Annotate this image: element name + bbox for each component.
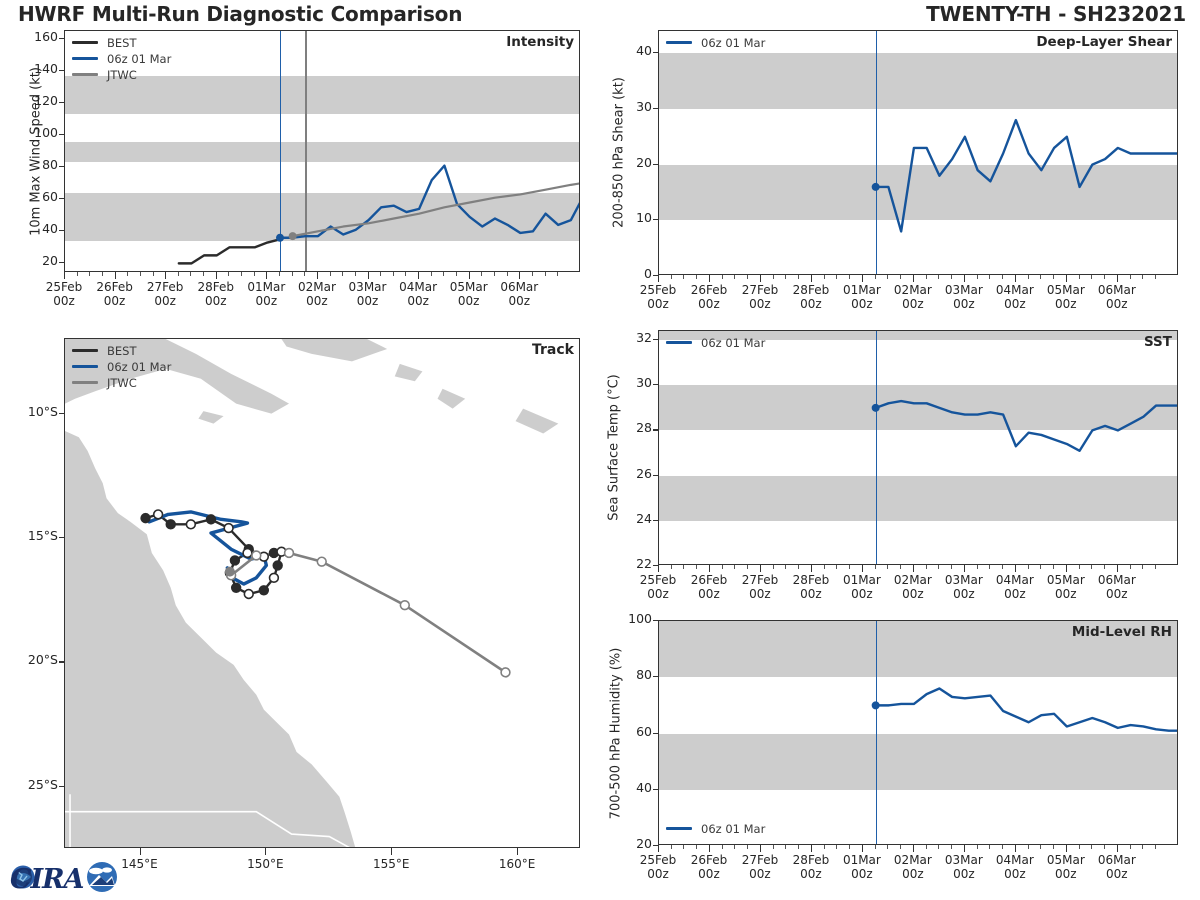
x-minor-tick: [696, 845, 697, 849]
x-tick-hour: 00z: [647, 587, 669, 601]
x-minor-tick: [900, 845, 901, 849]
x-minor-tick: [785, 845, 786, 849]
legend-item-best: BEST: [72, 343, 171, 358]
x-minor-tick: [1104, 565, 1105, 569]
x-tick-mark: [811, 275, 812, 282]
x-minor-tick: [1028, 565, 1029, 569]
map-y-tick-label: 10°S: [6, 404, 58, 419]
y-tick-mark: [653, 108, 659, 109]
x-tick-label: 06Mar00z: [1083, 853, 1151, 881]
x-minor-tick: [836, 565, 837, 569]
map-x-tick-label: 155°E: [351, 857, 431, 871]
y-tick-label: 30: [610, 99, 652, 114]
y-tick-label: 10: [610, 210, 652, 225]
legend-item-jtwc: JTWC: [72, 375, 171, 390]
y-tick-label: 22: [610, 556, 652, 571]
track-panel: Track BEST06z 01 MarJTWC: [64, 338, 580, 848]
map-y-tick-label: 25°S: [6, 777, 58, 792]
x-tick-hour: 00z: [205, 294, 227, 308]
x-tick-mark: [964, 845, 965, 852]
x-tick-date: 01Mar: [843, 573, 881, 587]
x-tick-date: 01Mar: [247, 280, 285, 294]
x-minor-tick: [836, 845, 837, 849]
x-tick-mark: [709, 845, 710, 852]
init-marker: [872, 183, 880, 191]
legend-label: 06z 01 Mar: [107, 52, 171, 66]
x-minor-tick: [1104, 845, 1105, 849]
x-tick-date: 05Mar: [450, 280, 488, 294]
y-tick-label: 20: [16, 253, 58, 268]
x-minor-tick: [989, 275, 990, 279]
map-x-tick-mark: [265, 848, 266, 855]
rh-legend: 06z 01 Mar: [666, 821, 765, 837]
y-tick-label: 120: [16, 93, 58, 108]
x-tick-mark: [709, 565, 710, 572]
x-minor-tick: [798, 565, 799, 569]
x-tick-hour: 00z: [256, 294, 278, 308]
x-tick-mark: [658, 275, 659, 282]
y-tick-label: 40: [610, 43, 652, 58]
x-minor-tick: [785, 275, 786, 279]
x-minor-tick: [722, 565, 723, 569]
y-tick-mark: [653, 219, 659, 220]
y-tick-label: 80: [16, 157, 58, 172]
track-marker: [224, 524, 233, 533]
init-marker: [276, 234, 284, 242]
x-tick-date: 03Mar: [349, 280, 387, 294]
x-minor-tick: [875, 845, 876, 849]
x-tick-mark: [64, 272, 65, 279]
x-tick-date: 03Mar: [945, 853, 983, 867]
y-tick-mark: [653, 52, 659, 53]
x-tick-mark: [1117, 275, 1118, 282]
track-marker: [501, 668, 510, 677]
x-minor-tick: [722, 275, 723, 279]
y-tick-label: 100: [610, 611, 652, 626]
legend-swatch: [72, 349, 98, 352]
x-tick-date: 04Mar: [996, 573, 1034, 587]
x-tick-hour: 00z: [800, 867, 822, 881]
x-tick-date: 27Feb: [147, 280, 184, 294]
x-tick-date: 25Feb: [640, 573, 677, 587]
x-minor-tick: [241, 272, 242, 276]
x-tick-hour: 00z: [1106, 297, 1128, 311]
x-tick-date: 06Mar: [500, 280, 538, 294]
x-minor-tick: [1053, 565, 1054, 569]
x-tick-hour: 00z: [508, 294, 530, 308]
x-minor-tick: [696, 565, 697, 569]
x-tick-hour: 00z: [357, 294, 379, 308]
x-minor-tick: [824, 275, 825, 279]
series-line-06z-01-mar: [876, 401, 1178, 451]
x-tick-date: 04Mar: [996, 853, 1034, 867]
y-tick-label: 40: [610, 780, 652, 795]
x-minor-tick: [1028, 845, 1029, 849]
map-y-tick-mark: [59, 413, 65, 414]
y-tick-label: 60: [610, 724, 652, 739]
x-minor-tick: [734, 275, 735, 279]
x-tick-hour: 00z: [53, 294, 75, 308]
track-init-marker: [225, 567, 235, 577]
legend-item-06z-01-mar: 06z 01 Mar: [72, 359, 171, 374]
x-minor-tick: [875, 275, 876, 279]
x-tick-mark: [1066, 275, 1067, 282]
series-line-jtwc: [293, 183, 580, 236]
x-tick-mark: [519, 272, 520, 279]
y-tick-mark: [59, 262, 65, 263]
legend-swatch: [666, 41, 692, 44]
x-minor-tick: [849, 565, 850, 569]
y-tick-label: 30: [610, 375, 652, 390]
y-tick-mark: [653, 520, 659, 521]
track-line-jtwc: [231, 553, 505, 672]
x-minor-tick: [1079, 565, 1080, 569]
x-minor-tick: [747, 275, 748, 279]
x-tick-mark: [760, 565, 761, 572]
track-marker: [285, 549, 294, 558]
x-minor-tick: [1040, 565, 1041, 569]
x-minor-tick: [671, 565, 672, 569]
x-minor-tick: [1091, 275, 1092, 279]
x-tick-hour: 00z: [1055, 867, 1077, 881]
x-minor-tick: [1155, 845, 1156, 849]
x-tick-mark: [165, 272, 166, 279]
x-minor-tick: [304, 272, 305, 276]
x-tick-hour: 00z: [1004, 587, 1026, 601]
y-tick-label: 0: [610, 266, 652, 281]
x-minor-tick: [926, 275, 927, 279]
x-minor-tick: [696, 275, 697, 279]
x-minor-tick: [431, 272, 432, 276]
x-minor-tick: [153, 272, 154, 276]
x-tick-date: 26Feb: [691, 283, 728, 297]
sst-panel-label: SST: [1144, 334, 1172, 350]
x-minor-tick: [734, 565, 735, 569]
x-minor-tick: [1002, 845, 1003, 849]
series-line-06z-01-mar: [280, 166, 580, 238]
x-minor-tick: [405, 272, 406, 276]
x-minor-tick: [887, 845, 888, 849]
x-minor-tick: [849, 275, 850, 279]
track-marker: [243, 549, 252, 558]
map-y-tick-label: 20°S: [6, 652, 58, 667]
x-tick-mark: [658, 565, 659, 572]
legend-item-best: BEST: [72, 35, 171, 50]
map-y-tick-mark: [59, 661, 65, 662]
legend-label: BEST: [107, 344, 136, 358]
x-minor-tick: [1040, 845, 1041, 849]
y-tick-mark: [653, 733, 659, 734]
x-tick-date: 27Feb: [742, 283, 779, 297]
legend-item-06z-01-mar: 06z 01 Mar: [72, 51, 171, 66]
x-tick-hour: 00z: [953, 587, 975, 601]
legend-label: JTWC: [107, 68, 137, 82]
legend-swatch: [666, 827, 692, 830]
x-minor-tick: [178, 272, 179, 276]
track-marker: [166, 520, 175, 529]
x-tick-date: 28Feb: [793, 853, 830, 867]
x-tick-hour: 00z: [104, 294, 126, 308]
intensity-panel: Intensity BEST06z 01 MarJTWC: [64, 30, 580, 272]
y-tick-mark: [653, 339, 659, 340]
x-minor-tick: [89, 272, 90, 276]
x-minor-tick: [1142, 565, 1143, 569]
x-tick-hour: 00z: [698, 587, 720, 601]
map-x-tick-mark: [517, 848, 518, 855]
x-tick-hour: 00z: [902, 587, 924, 601]
shear-plot-area: Deep-Layer Shear: [658, 30, 1178, 275]
x-minor-tick: [292, 272, 293, 276]
x-tick-date: 01Mar: [843, 853, 881, 867]
x-minor-tick: [228, 272, 229, 276]
map-y-tick-label: 15°S: [6, 528, 58, 543]
sst-y-axis-label: Sea Surface Temp (°C): [607, 328, 622, 568]
track-marker: [317, 557, 326, 566]
x-minor-tick: [140, 272, 141, 276]
track-series-svg: [65, 339, 580, 848]
x-minor-tick: [926, 845, 927, 849]
x-minor-tick: [849, 845, 850, 849]
shear-y-axis-label: 200-850 hPa Shear (kt): [612, 33, 627, 273]
track-marker: [270, 573, 279, 582]
y-tick-mark: [653, 384, 659, 385]
x-tick-mark: [469, 272, 470, 279]
x-minor-tick: [887, 565, 888, 569]
track-marker: [400, 601, 409, 610]
x-minor-tick: [798, 275, 799, 279]
x-tick-label: 06Mar00z: [1083, 283, 1151, 311]
x-minor-tick: [683, 565, 684, 569]
x-tick-hour: 00z: [851, 297, 873, 311]
y-tick-label: 140: [16, 61, 58, 76]
x-minor-tick: [875, 565, 876, 569]
legend-swatch: [72, 73, 98, 76]
x-tick-date: 26Feb: [691, 853, 728, 867]
shear-series-svg: [659, 31, 1178, 275]
track-plot-area: Track: [64, 338, 580, 848]
x-tick-hour: 00z: [698, 297, 720, 311]
x-minor-tick: [330, 272, 331, 276]
legend-item-06z-01-mar: 06z 01 Mar: [666, 335, 765, 350]
x-tick-date: 02Mar: [894, 573, 932, 587]
x-minor-tick: [254, 272, 255, 276]
x-minor-tick: [1130, 845, 1131, 849]
y-tick-label: 100: [16, 125, 58, 140]
x-minor-tick: [1079, 845, 1080, 849]
x-minor-tick: [127, 272, 128, 276]
x-minor-tick: [747, 845, 748, 849]
track-marker: [252, 551, 261, 560]
x-minor-tick: [824, 565, 825, 569]
x-tick-mark: [1117, 565, 1118, 572]
x-tick-date: 25Feb: [46, 280, 83, 294]
legend-label: JTWC: [107, 376, 137, 390]
legend-item-06z-01-mar: 06z 01 Mar: [666, 821, 765, 836]
x-tick-mark: [1066, 565, 1067, 572]
y-tick-mark: [59, 166, 65, 167]
x-tick-mark: [760, 845, 761, 852]
sst-legend: 06z 01 Mar: [666, 335, 765, 351]
y-tick-label: 32: [610, 330, 652, 345]
x-tick-date: 04Mar: [996, 283, 1034, 297]
y-tick-mark: [653, 429, 659, 430]
legend-swatch: [72, 365, 98, 368]
x-tick-date: 26Feb: [96, 280, 133, 294]
x-minor-tick: [747, 565, 748, 569]
track-marker: [244, 590, 253, 599]
x-minor-tick: [557, 272, 558, 276]
init-marker: [872, 404, 880, 412]
x-minor-tick: [507, 272, 508, 276]
x-tick-date: 02Mar: [298, 280, 336, 294]
x-tick-date: 03Mar: [945, 573, 983, 587]
rh-panel-label: Mid-Level RH: [1072, 624, 1172, 640]
x-tick-date: 28Feb: [197, 280, 234, 294]
map-x-tick-label: 160°E: [477, 857, 557, 871]
page-title-right: TWENTY-TH - SH232021: [926, 2, 1186, 26]
x-tick-hour: 00z: [407, 294, 429, 308]
x-tick-hour: 00z: [1004, 867, 1026, 881]
x-tick-date: 02Mar: [894, 283, 932, 297]
x-tick-mark: [811, 845, 812, 852]
page-title-left: HWRF Multi-Run Diagnostic Comparison: [18, 2, 462, 26]
x-minor-tick: [785, 565, 786, 569]
track-marker: [232, 583, 241, 592]
track-panel-label: Track: [532, 342, 574, 358]
x-minor-tick: [203, 272, 204, 276]
x-minor-tick: [1002, 275, 1003, 279]
legend-swatch: [72, 381, 98, 384]
x-minor-tick: [989, 845, 990, 849]
x-minor-tick: [977, 845, 978, 849]
x-minor-tick: [1079, 275, 1080, 279]
x-tick-mark: [115, 272, 116, 279]
x-tick-mark: [1015, 845, 1016, 852]
map-x-tick-mark: [391, 848, 392, 855]
x-tick-mark: [1117, 845, 1118, 852]
x-tick-mark: [658, 845, 659, 852]
track-marker: [259, 586, 268, 595]
x-tick-hour: 00z: [749, 297, 771, 311]
map-y-tick-mark: [59, 537, 65, 538]
x-tick-date: 25Feb: [640, 283, 677, 297]
x-tick-mark: [964, 275, 965, 282]
x-tick-hour: 00z: [306, 294, 328, 308]
track-marker: [231, 556, 240, 565]
track-marker: [273, 561, 282, 570]
x-minor-tick: [887, 275, 888, 279]
x-minor-tick: [926, 565, 927, 569]
legend-label: BEST: [107, 36, 136, 50]
x-tick-mark: [913, 845, 914, 852]
svg-text:CIRA: CIRA: [10, 864, 84, 895]
x-tick-date: 06Mar: [1098, 853, 1136, 867]
x-minor-tick: [951, 275, 952, 279]
x-minor-tick: [683, 845, 684, 849]
x-tick-mark: [317, 272, 318, 279]
x-tick-mark: [1015, 275, 1016, 282]
x-tick-date: 05Mar: [1047, 573, 1085, 587]
x-minor-tick: [1130, 565, 1131, 569]
sst-panel: SST 06z 01 Mar: [658, 330, 1178, 565]
rh-panel: Mid-Level RH 06z 01 Mar: [658, 620, 1178, 845]
x-minor-tick: [1091, 845, 1092, 849]
x-minor-tick: [836, 275, 837, 279]
map-x-tick-mark: [140, 848, 141, 855]
x-tick-mark: [368, 272, 369, 279]
y-tick-label: 24: [610, 511, 652, 526]
shear-legend: 06z 01 Mar: [666, 35, 765, 51]
x-minor-tick: [1155, 275, 1156, 279]
map-y-tick-mark: [59, 786, 65, 787]
track-marker: [141, 514, 150, 523]
x-tick-date: 06Mar: [1098, 573, 1136, 587]
x-minor-tick: [1028, 275, 1029, 279]
x-tick-hour: 00z: [1055, 587, 1077, 601]
x-minor-tick: [1142, 845, 1143, 849]
x-tick-hour: 00z: [698, 867, 720, 881]
x-tick-label: 06Mar00z: [1083, 573, 1151, 601]
x-minor-tick: [773, 565, 774, 569]
y-tick-mark: [59, 102, 65, 103]
x-minor-tick: [989, 565, 990, 569]
x-tick-hour: 00z: [647, 867, 669, 881]
x-tick-date: 03Mar: [945, 283, 983, 297]
x-minor-tick: [773, 275, 774, 279]
legend-swatch: [72, 57, 98, 60]
x-minor-tick: [900, 565, 901, 569]
x-minor-tick: [977, 565, 978, 569]
init-marker: [872, 701, 880, 709]
x-minor-tick: [683, 275, 684, 279]
x-tick-date: 05Mar: [1047, 853, 1085, 867]
x-minor-tick: [1053, 275, 1054, 279]
x-tick-mark: [913, 565, 914, 572]
y-tick-mark: [653, 164, 659, 165]
x-minor-tick: [671, 845, 672, 849]
x-minor-tick: [532, 272, 533, 276]
legend-item-06z-01-mar: 06z 01 Mar: [666, 35, 765, 50]
x-minor-tick: [824, 845, 825, 849]
x-tick-date: 04Mar: [399, 280, 437, 294]
x-minor-tick: [1155, 565, 1156, 569]
x-tick-mark: [760, 275, 761, 282]
y-tick-mark: [59, 38, 65, 39]
y-tick-mark: [59, 70, 65, 71]
x-tick-hour: 00z: [1055, 297, 1077, 311]
x-tick-hour: 00z: [851, 867, 873, 881]
x-minor-tick: [279, 272, 280, 276]
y-tick-mark: [59, 198, 65, 199]
x-tick-hour: 00z: [953, 297, 975, 311]
x-tick-hour: 00z: [154, 294, 176, 308]
x-tick-hour: 00z: [749, 587, 771, 601]
legend-label: 06z 01 Mar: [701, 336, 765, 350]
x-tick-hour: 00z: [749, 867, 771, 881]
jtwc-init-marker: [289, 232, 297, 240]
y-tick-label: 80: [610, 667, 652, 682]
y-tick-mark: [59, 134, 65, 135]
series-line-06z-01-mar: [876, 120, 1178, 231]
x-tick-mark: [862, 565, 863, 572]
x-tick-mark: [266, 272, 267, 279]
x-tick-mark: [811, 565, 812, 572]
x-minor-tick: [1053, 845, 1054, 849]
y-tick-label: 40: [16, 221, 58, 236]
x-minor-tick: [355, 272, 356, 276]
x-minor-tick: [102, 272, 103, 276]
x-minor-tick: [900, 275, 901, 279]
